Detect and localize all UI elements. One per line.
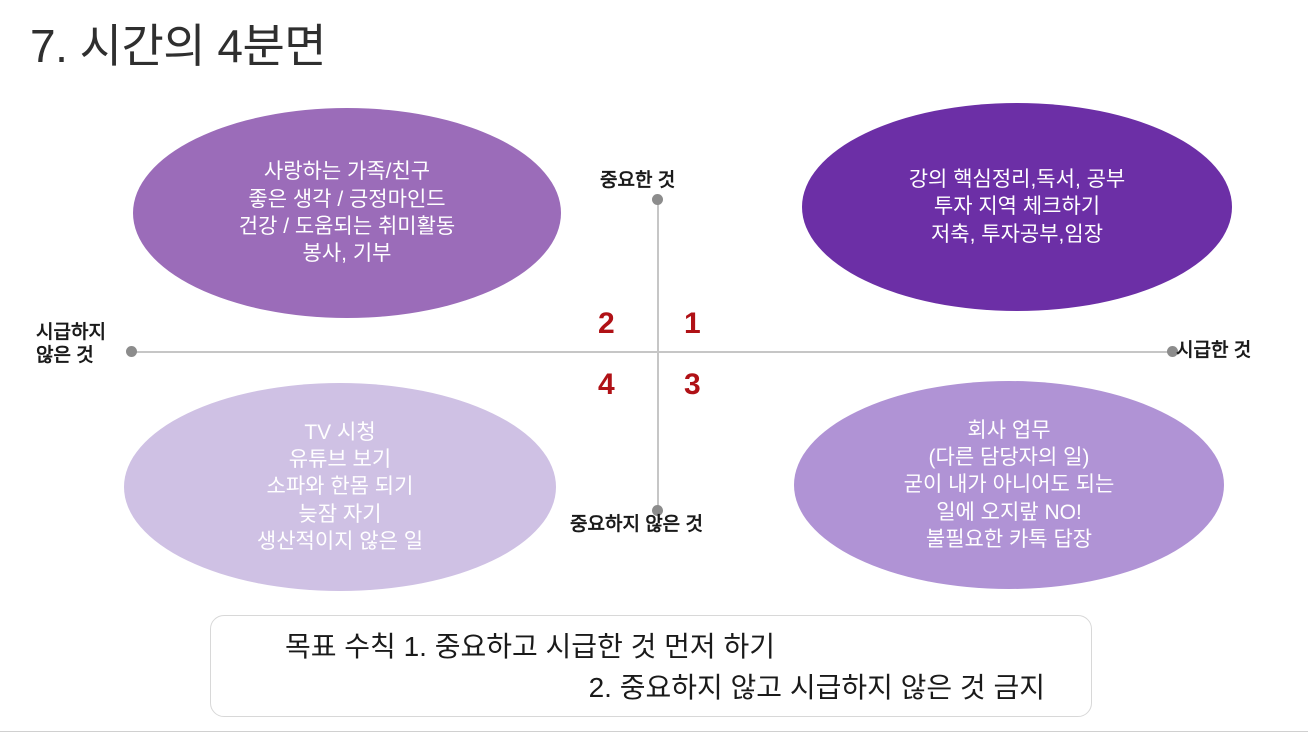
horizontal-axis-line [131,351,1172,353]
axis-label-urgent: 시급한 것 [1176,340,1251,363]
axis-label-not-important: 중요하지 않은 것 [570,514,703,537]
slide-canvas: 7. 시간의 4분면 시급하지 않은 것 시급한 것 중요한 것 중요하지 않은… [0,0,1308,738]
quadrant-ellipse-2: 사랑하는 가족/친구 좋은 생각 / 긍정마인드 건강 / 도움되는 취미활동 … [133,108,561,318]
goal-rule-line-2: 2. 중요하지 않고 시급하지 않은 것 금지 [237,667,1065,708]
goal-rules-box: 목표 수칙 1. 중요하고 시급한 것 먼저 하기 2. 중요하지 않고 시급하… [210,615,1092,717]
axis-label-not-urgent: 시급하지 않은 것 [36,322,106,368]
quadrant-number-4: 4 [598,368,615,402]
quadrant-number-1: 1 [684,307,701,341]
goal-rule-line-1: 목표 수칙 1. 중요하고 시급한 것 먼저 하기 [237,626,1065,667]
quadrant-number-3: 3 [684,368,701,402]
axis-endpoint-dot-top [652,194,663,205]
quadrant-ellipse-3: 회사 업무 (다른 담당자의 일) 굳이 내가 아니어도 되는 일에 오지랖 N… [794,381,1224,589]
axis-label-important: 중요한 것 [600,170,675,193]
page-title: 7. 시간의 4분면 [30,10,326,76]
quadrant-number-2: 2 [598,307,615,341]
vertical-axis-line [657,199,659,511]
quadrant-ellipse-4: TV 시청 유튜브 보기 소파와 한몸 되기 늦잠 자기 생산적이지 않은 일 [124,383,556,591]
axis-endpoint-dot-left [126,346,137,357]
quadrant-ellipse-1: 강의 핵심정리,독서, 공부 투자 지역 체크하기 저축, 투자공부,임장 [802,103,1232,311]
slide-bottom-divider [0,731,1308,732]
